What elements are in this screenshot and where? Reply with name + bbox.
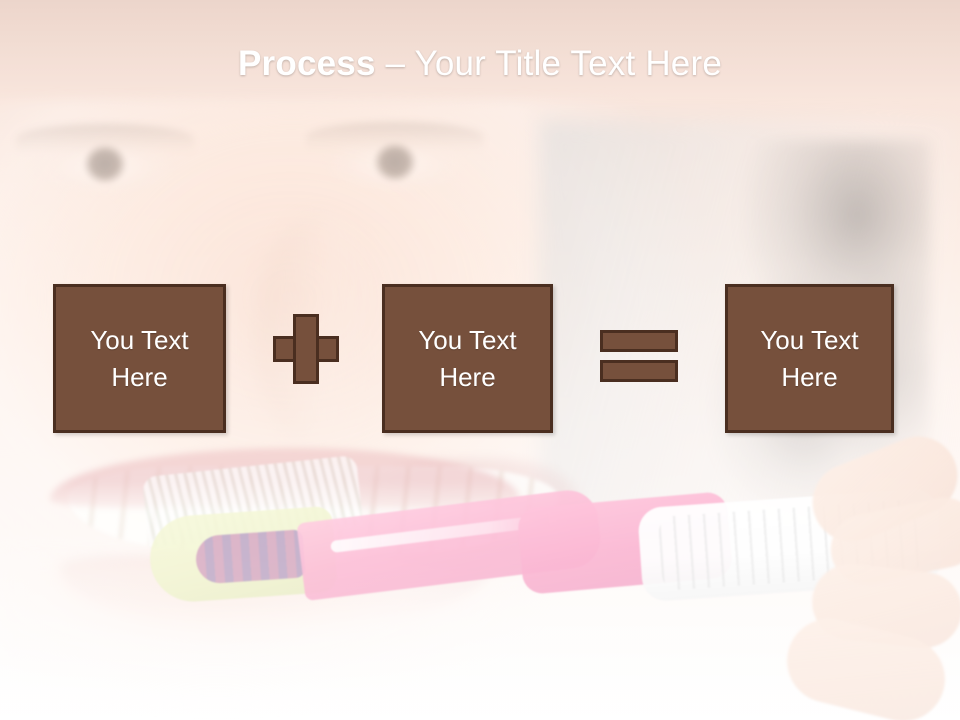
hand: [700, 440, 960, 720]
title-banner: Process – Your Title Text Here: [0, 0, 960, 129]
toothbrush-tongue-pad: [194, 529, 305, 584]
process-box-3[interactable]: You Text Here: [725, 284, 894, 433]
process-box-3-label: You Text Here: [760, 322, 858, 396]
process-box-2[interactable]: You Text Here: [382, 284, 553, 433]
process-box-1[interactable]: You Text Here: [53, 284, 226, 433]
equals-icon-bottom-bar: [600, 360, 678, 382]
equals-icon-top-bar: [600, 330, 678, 352]
process-box-1-label: You Text Here: [90, 322, 188, 396]
process-box-2-label: You Text Here: [418, 322, 516, 396]
equals-icon: [600, 330, 678, 382]
page-title-light: – Your Title Text Here: [376, 44, 722, 83]
slide: Process – Your Title Text Here You Text …: [0, 0, 960, 720]
page-title: Process – Your Title Text Here: [238, 45, 722, 84]
plus-icon-center: [296, 339, 316, 359]
page-title-strong: Process: [238, 44, 376, 83]
plus-icon: [273, 314, 339, 384]
